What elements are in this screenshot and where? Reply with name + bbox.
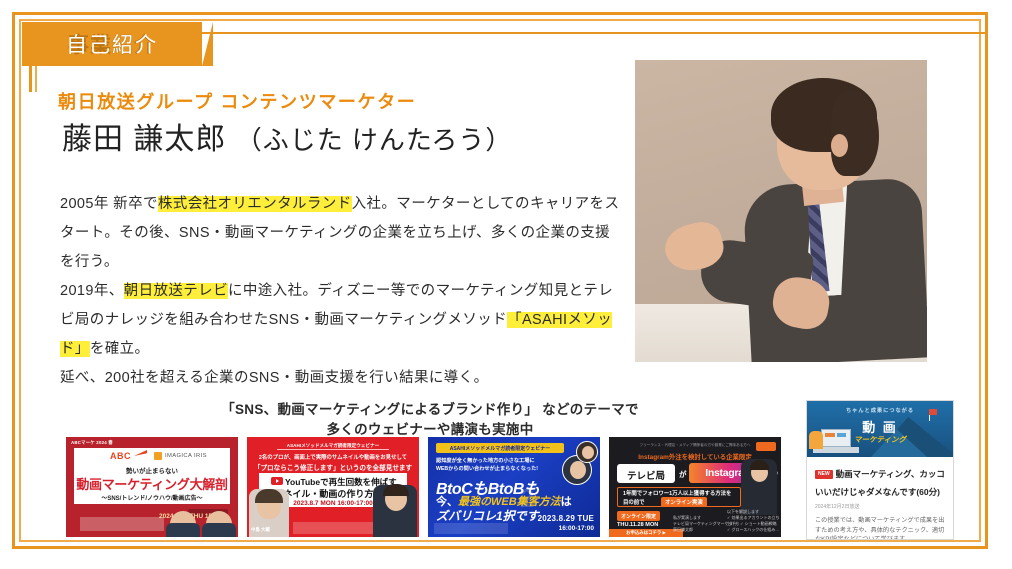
header-rule — [196, 32, 988, 34]
article-card-banner: ちゃんと成果につながる 動 画 マーケティング — [807, 401, 953, 457]
t4-online-badge: オンライン限定 — [617, 511, 660, 521]
t4-agenda-items: ✓ 効果出るアカウントの立ち上げ方 ✓ ショート動画戦略 ✓ グロースハックの仕… — [727, 515, 781, 533]
profile-role: 朝日放送グループ コンテンツマーケター — [58, 88, 416, 114]
section-badge-stem — [29, 66, 32, 92]
banner-top-label: ちゃんと成果につながる — [807, 407, 953, 414]
t1-presenter-2-body — [202, 523, 236, 537]
youtube-play-icon — [271, 477, 283, 485]
t3-headline-3: ズバリコレ1択です — [436, 507, 539, 524]
t4-particle: が — [679, 469, 687, 480]
t3-line-1: 認知度が全く無かった地方の小さな工場に — [436, 457, 538, 465]
thumbnail-abc-imagica-webinar[interactable]: ABCマーケ 2024 春 ABC IMAGICA IRIS 勢いが止まらない … — [66, 437, 238, 537]
t1-subtitle-2: 〜SNS/トレンド/ノウハウ/動画広告〜 — [66, 493, 238, 502]
profile-bio: 2005年 新卒で株式会社オリエンタルランド入社。マーケターとしてのキャリアをス… — [60, 190, 620, 393]
section-badge-label: 自己紹介 — [66, 29, 158, 59]
abc-logo: ABC — [110, 451, 131, 461]
webinar-caption-line-1: 「SNS、動画マーケティングによるブランド作り」 などのテーマで — [60, 400, 800, 420]
section-badge: 事業紹介 自己紹介 — [22, 22, 202, 66]
bio-p1-highlight: 株式会社オリエンタルランド — [158, 196, 352, 212]
t1-presenter-1-body — [166, 523, 200, 537]
t4-agenda: 以下を解説します✓ 効果出るアカウントの立ち上げ方 ✓ ショート動画戦略 ✓ グ… — [727, 509, 781, 533]
t4-tv-label: テレビ局 — [617, 468, 675, 482]
webinar-caption: 「SNS、動画マーケティングによるブランド作り」 などのテーマで 多くのウェビナ… — [60, 400, 800, 440]
t2-line-1: 2名のプロが、画面上で実際のサムネイルや動画をお見せして — [247, 453, 419, 461]
t4-line-2: 1年間でフォロワー1万人以上獲得する方法を — [623, 489, 731, 497]
t1-fineprint — [80, 517, 164, 531]
webinar-thumbnail-strip: ABCマーケ 2024 春 ABC IMAGICA IRIS 勢いが止まらない … — [66, 437, 796, 537]
t3-avatar-2 — [576, 441, 598, 463]
article-new-badge: NEW — [815, 470, 833, 479]
t2-speaker-right — [373, 485, 417, 537]
t2-line-2: 「プロならこう修正します」というのを全部見せます — [247, 462, 419, 472]
t3-fineprint — [434, 523, 508, 534]
article-title: 動画マーケティング、カッコいいだけじゃダメなんです(60分) — [815, 469, 945, 497]
photo-ear — [831, 134, 848, 157]
t4-pill: オンライン実演 — [661, 497, 707, 507]
bio-p2-prefix: 2019年、 — [60, 283, 124, 299]
article-card-body: NEW動画マーケティング、カッコいいだけじゃダメなんです(60分) 2024年1… — [807, 457, 953, 540]
t3-time: 16:00-17:00 — [559, 525, 594, 532]
article-date: 2024年12月2日放送 — [815, 503, 945, 510]
t1-headline: 動画マーケティング大解剖 — [66, 474, 238, 493]
bio-paragraph-3: 延べ、200社を超える企業のSNS・動画支援を行い結果に導く。 — [60, 364, 620, 393]
t2-header-underline — [277, 449, 389, 450]
thumbnail-instagram-webinar[interactable]: フリーランス・代理店・メディア関係者の方や副業にご興味ある方へ Instagra… — [609, 437, 781, 537]
t4-cta-button[interactable]: お申込みはコチラ ▶ — [609, 529, 683, 537]
profile-name-kana: （ふじた けんたろう） — [236, 125, 513, 155]
profile-name-kanji: 藤田 謙太郎 — [62, 123, 226, 156]
bio-paragraph-2: 2019年、朝日放送テレビに中途入社。ディズニー等でのマーケティング知見とテレビ… — [60, 277, 620, 364]
t3-date: 2023.8.29 TUE — [538, 514, 594, 523]
banner-sub-label: マーケティング — [807, 434, 953, 445]
t4-speaker-figure — [741, 459, 777, 515]
article-card[interactable]: ちゃんと成果につながる 動 画 マーケティング NEW動画マーケティング、カッコ… — [806, 400, 954, 540]
t4-date: THU.11.28 MON — [617, 522, 658, 528]
thumbnail-btoc-btob-webinar[interactable]: ASAHIメソッドメルマガ読者限定ウェビナー 認知度が全く無かった地方の小さな工… — [428, 437, 600, 537]
t4-tv-box: テレビ局 — [617, 464, 675, 483]
t3-headline-2-b: は — [561, 496, 572, 508]
t3-line-2: WEBからの問い合わせが止まらなくなった! — [436, 465, 538, 473]
imagica-iris-mark-icon — [154, 452, 162, 460]
imagica-iris-logo: IMAGICA IRIS — [165, 453, 207, 459]
bio-p2-suffix: を確立。 — [90, 341, 150, 357]
t3-ribbon-label: ASAHIメソッドメルマガ読者限定ウェビナー — [436, 445, 564, 452]
t2-fineprint — [293, 522, 373, 534]
bio-p1-prefix: 2005年 新卒で — [60, 196, 158, 212]
t3-lines: 認知度が全く無かった地方の小さな工場に WEBからの問い合わせが止まらなくなった… — [436, 457, 538, 473]
speaker-photo — [635, 60, 927, 362]
slide-root: 事業紹介 自己紹介 朝日放送グループ コンテンツマーケター 藤田 謙太郎 （ふじ… — [0, 0, 1012, 569]
section-badge-stem-secondary — [35, 66, 37, 92]
t3-ribbon: ASAHIメソッドメルマガ読者限定ウェビナー — [436, 443, 564, 453]
article-description: この授業では、動画マーケティングで成果を出すための考え方や、具体的なテクニック、… — [815, 516, 945, 540]
thumbnail-youtube-webinar[interactable]: ASAHIメソッドメルマガ読者限定ウェビナー 2名のプロが、画面上で実際のサムネ… — [247, 437, 419, 537]
bio-p2-highlight: 朝日放送テレビ — [124, 283, 228, 299]
profile-name: 藤田 謙太郎 （ふじた けんたろう） — [62, 114, 512, 158]
bio-paragraph-1: 2005年 新卒で株式会社オリエンタルランド入社。マーケターとしてのキャリアをス… — [60, 190, 620, 277]
t4-line-3: 目の前で — [623, 498, 645, 506]
t2-speaker-name: 中島 大輔 — [251, 527, 270, 533]
t4-badge — [756, 442, 776, 451]
t1-tag: ABCマーケ 2024 春 — [71, 440, 113, 446]
